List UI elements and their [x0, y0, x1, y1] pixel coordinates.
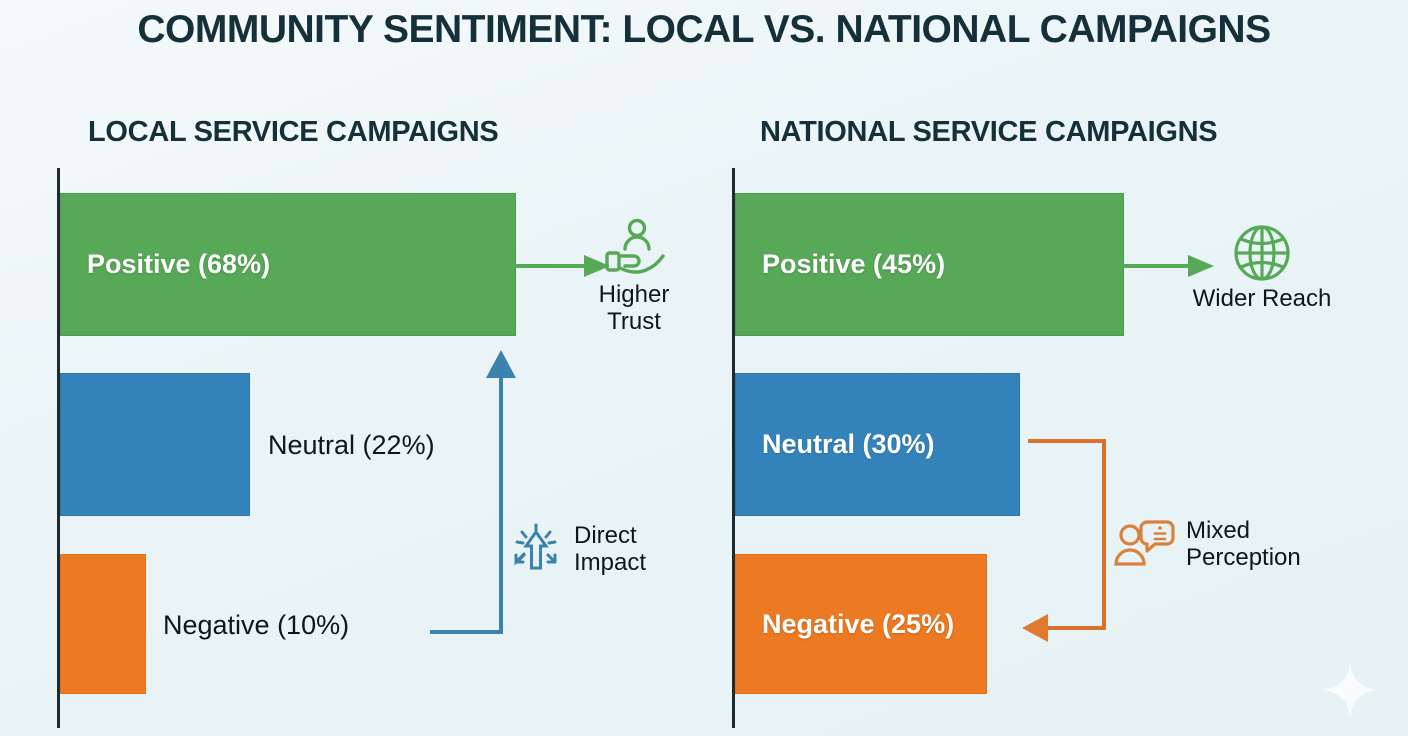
bar-national-positive[interactable]: Positive (45%) [735, 193, 1124, 336]
callout-label-mixed-perception: Mixed Perception [1186, 518, 1301, 572]
bar-label-local-negative: Negative (10%) [163, 610, 349, 641]
callout-label-wider-reach: Wider Reach [1182, 286, 1342, 313]
hand-holding-person-icon [603, 218, 665, 278]
person-speech-bubble-icon [1114, 518, 1176, 572]
page-title: COMMUNITY SENTIMENT: LOCAL VS. NATIONAL … [0, 8, 1408, 52]
callout-label-higher-trust: Higher Trust [572, 282, 696, 336]
infographic-canvas: COMMUNITY SENTIMENT: LOCAL VS. NATIONAL … [0, 0, 1408, 736]
bar-local-negative[interactable] [60, 554, 146, 694]
callout-label-direct-impact: Direct Impact [574, 523, 646, 577]
callout-wider-reach: Wider Reach [1182, 222, 1342, 313]
callout-direct-impact: Direct Impact [508, 522, 646, 578]
bar-label-local-neutral: Neutral (22%) [268, 430, 435, 461]
panel-title-national: NATIONAL SERVICE CAMPAIGNS [760, 116, 1217, 149]
bar-local-positive[interactable]: Positive (68%) [60, 193, 516, 336]
callout-mixed-perception: Mixed Perception [1114, 518, 1301, 572]
bar-label-national-positive: Positive (45%) [736, 249, 945, 280]
sparkle-icon [1322, 662, 1378, 718]
bar-label-local-positive: Positive (68%) [61, 249, 270, 280]
globe-icon [1231, 222, 1293, 284]
bar-local-neutral[interactable] [60, 373, 250, 516]
bar-label-national-negative: Negative (25%) [736, 609, 954, 640]
connector-local-negative-to-impact [428, 348, 516, 640]
bar-label-national-neutral: Neutral (30%) [736, 429, 935, 460]
callout-higher-trust: Higher Trust [572, 218, 696, 336]
bar-national-neutral[interactable]: Neutral (30%) [735, 373, 1020, 516]
panel-title-local: LOCAL SERVICE CAMPAIGNS [88, 116, 498, 149]
bar-national-negative[interactable]: Negative (25%) [735, 554, 987, 694]
connector-national-neutral-to-negative [1018, 436, 1110, 636]
multi-direction-arrow-icon [508, 522, 564, 578]
